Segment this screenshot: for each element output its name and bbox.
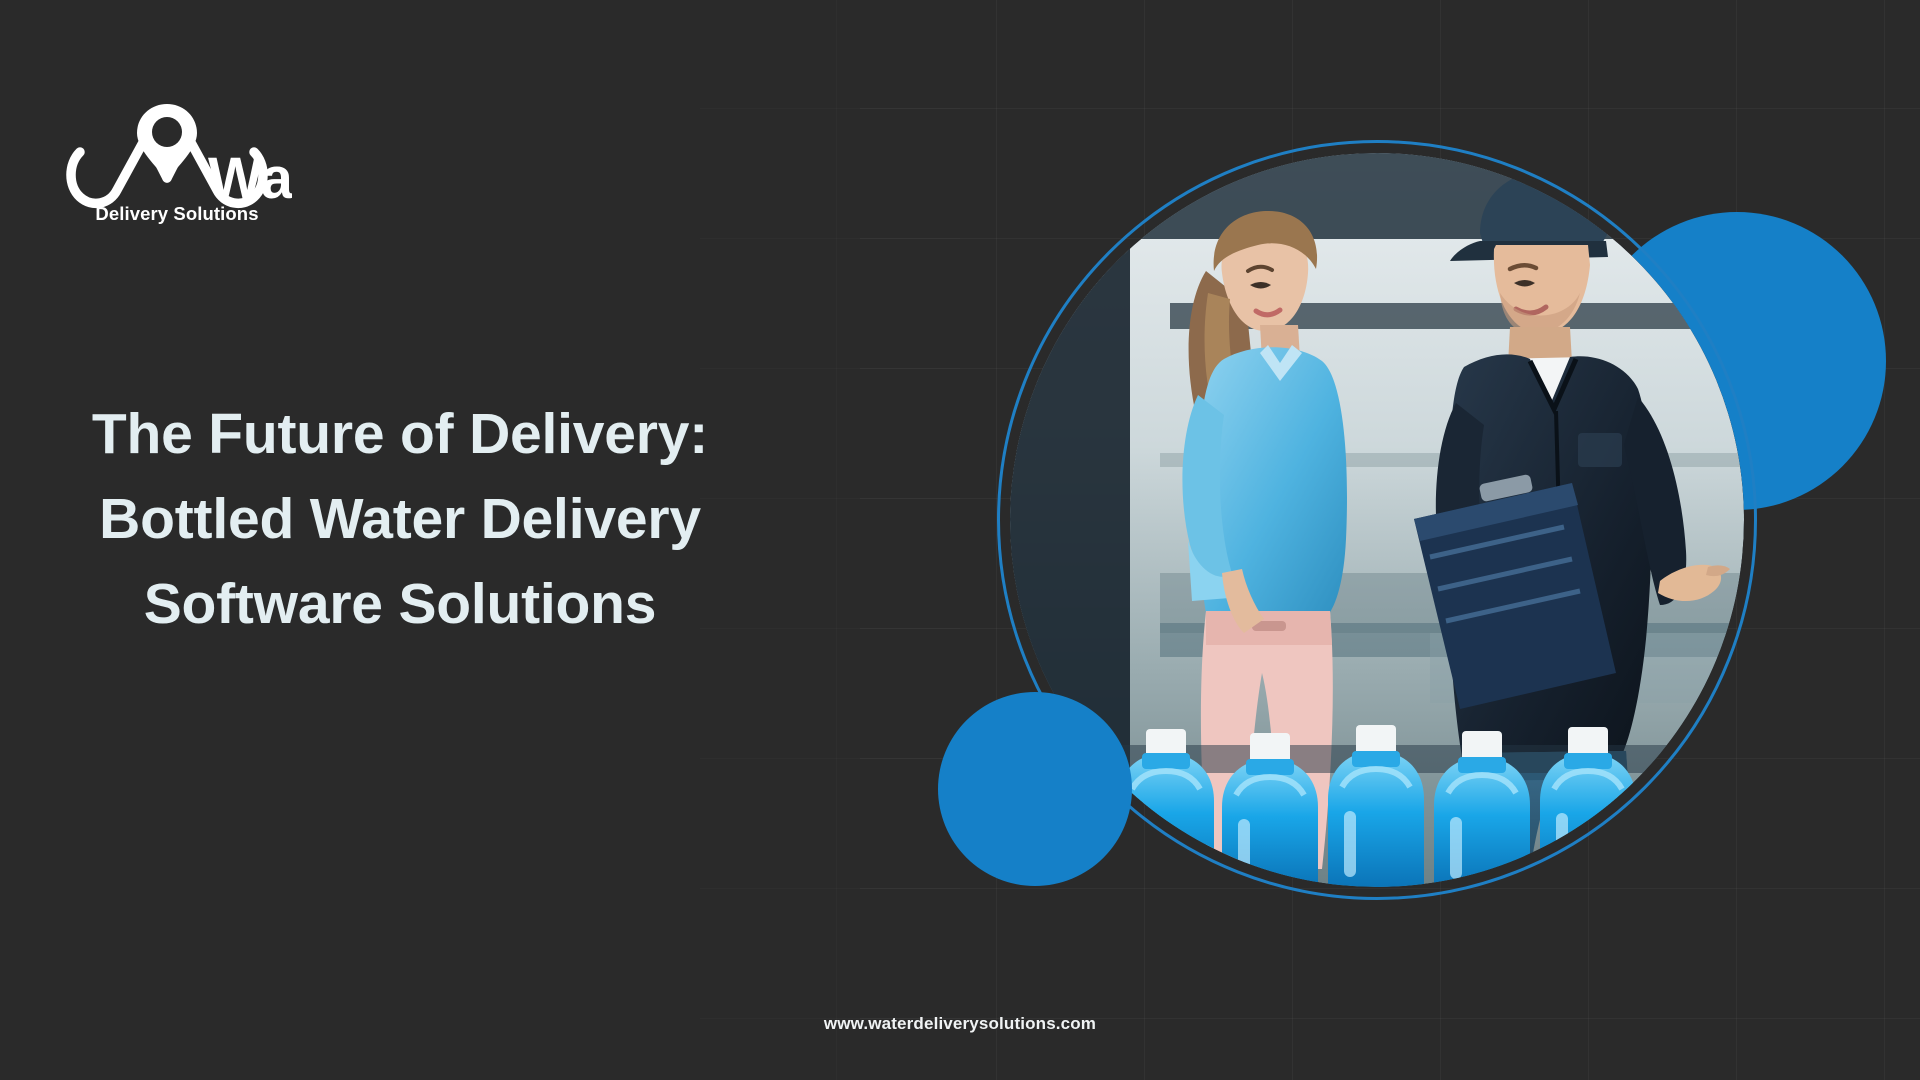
- website-url[interactable]: www.waterdeliverysolutions.com: [0, 1014, 1920, 1034]
- headline-line-1: The Future of Delivery:: [0, 392, 800, 477]
- blue-circle-decoration-bottom-left: [938, 692, 1132, 886]
- headline-line-3: Software Solutions: [0, 562, 800, 647]
- headline-line-2: Bottled Water Delivery: [0, 477, 800, 562]
- page-title: The Future of Delivery: Bottled Water De…: [0, 392, 800, 647]
- hero-graphic: [900, 0, 1920, 1080]
- brand-name: Water: [208, 146, 292, 211]
- brand-logo[interactable]: Water Delivery Solutions: [62, 100, 292, 228]
- pin-hole: [152, 117, 182, 147]
- brand-tagline: Delivery Solutions: [62, 203, 292, 225]
- promo-banner: Water Delivery Solutions The Future of D…: [0, 0, 1920, 1080]
